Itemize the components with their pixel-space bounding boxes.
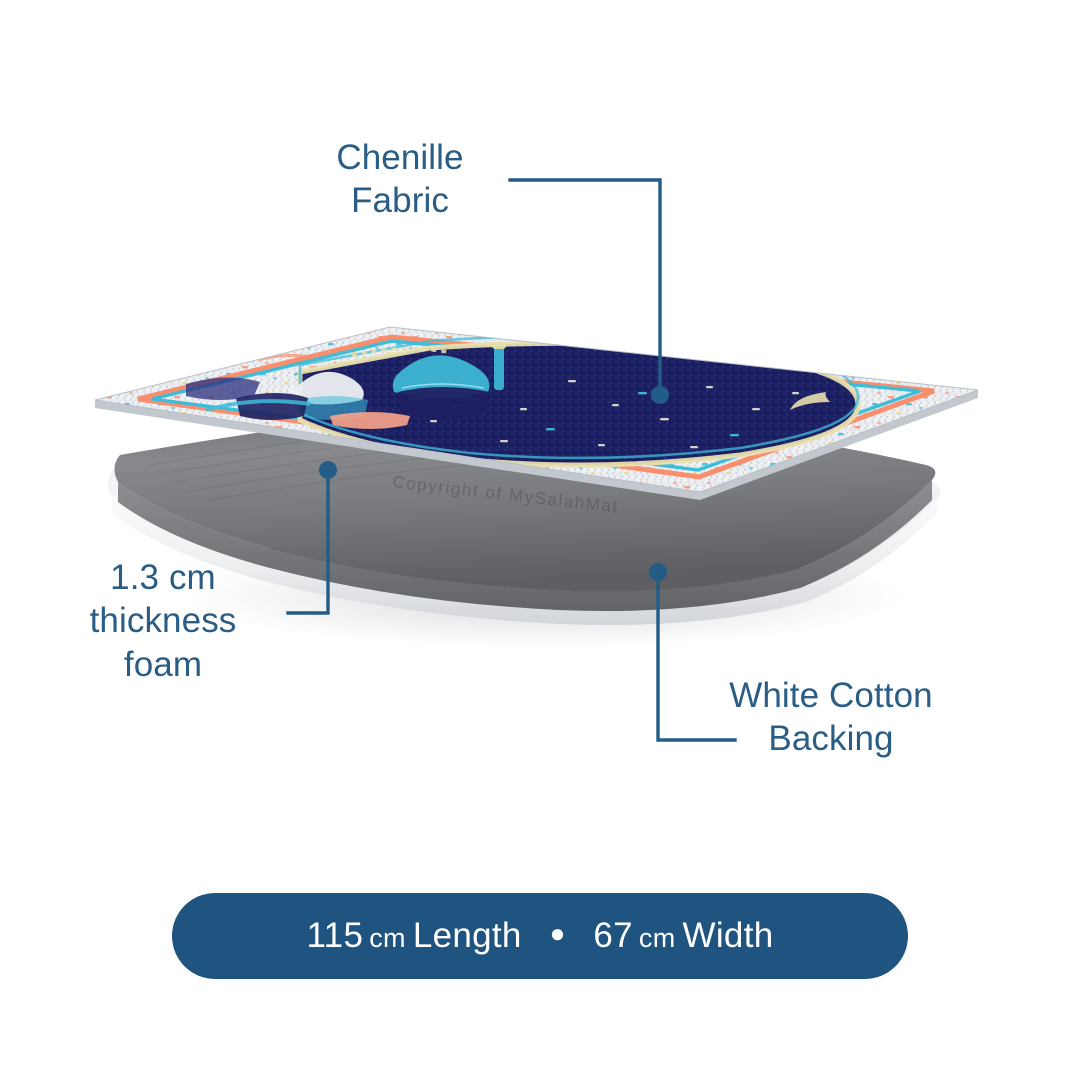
length-label: Length (413, 916, 522, 956)
callout-label-foam-thickness: 1.3 cm thickness foam (58, 556, 268, 686)
width-unit: cm (633, 923, 683, 954)
callout-label-chenille-fabric: Chenille Fabric (300, 136, 500, 223)
callout-dot-chenille (651, 386, 669, 404)
width-value: 67 (593, 916, 633, 956)
length-unit: cm (363, 923, 413, 954)
length-value: 115 (307, 916, 364, 956)
product-diagram-canvas: Copyright of MySalahMat (0, 0, 1080, 1080)
length-dimension: 115 cm Length (307, 916, 522, 956)
callout-label-white-cotton-backing: White Cotton Backing (716, 674, 946, 761)
width-dimension: 67 cm Width (593, 916, 773, 956)
width-label: Width (683, 916, 774, 956)
bullet-separator-icon: ● (522, 920, 594, 946)
dimensions-badge: 115 cm Length ● 67 cm Width (172, 893, 908, 979)
callout-dot-backing (649, 563, 667, 581)
callout-dot-foam (319, 461, 337, 479)
